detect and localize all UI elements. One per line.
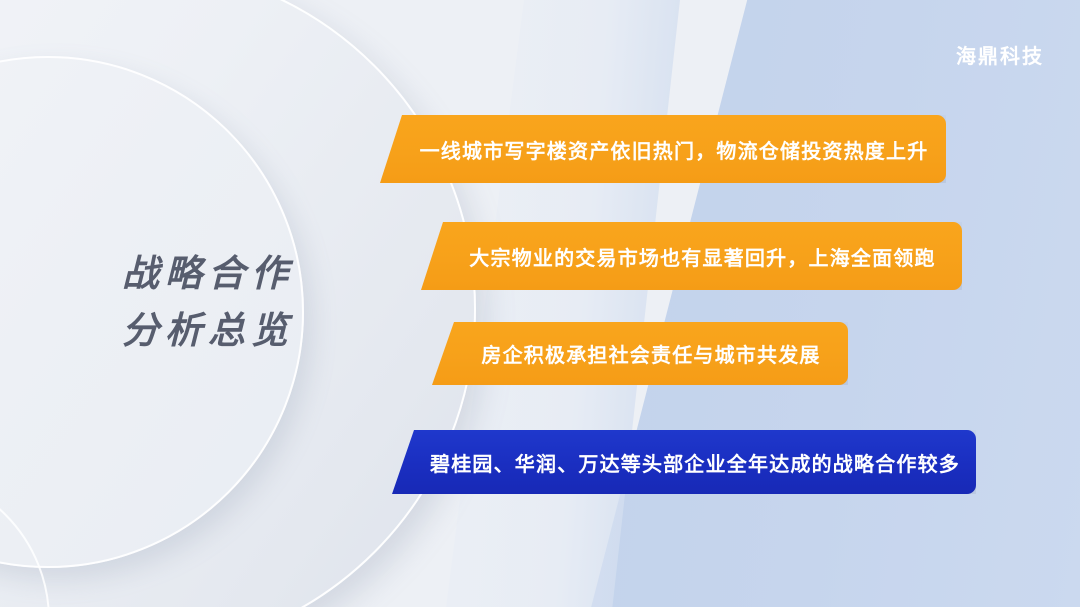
page-title-line-1: 战略合作 — [48, 245, 368, 302]
bar-item-label: 碧桂园、华润、万达等头部企业全年达成的战略合作较多 — [408, 448, 960, 477]
bar-item-label: 房企积极承担社会责任与城市共发展 — [459, 339, 820, 368]
company-logo: 海鼎科技 — [956, 40, 1044, 69]
page-title-line-2: 分析总览 — [48, 302, 368, 359]
page-title: 战略合作 分析总览 — [48, 245, 368, 360]
bar-item-4[interactable]: 碧桂园、华润、万达等头部企业全年达成的战略合作较多 — [392, 430, 976, 494]
bar-item-3[interactable]: 房企积极承担社会责任与城市共发展 — [432, 322, 848, 385]
bar-item-label: 一线城市写字楼资产依旧热门，物流仓储投资热度上升 — [398, 135, 929, 164]
bar-item-1[interactable]: 一线城市写字楼资产依旧热门，物流仓储投资热度上升 — [380, 115, 946, 183]
bar-item-2[interactable]: 大宗物业的交易市场也有显著回升，上海全面领跑 — [421, 222, 962, 290]
slide-canvas: 战略合作 分析总览 海鼎科技 一线城市写字楼资产依旧热门，物流仓储投资热度上升大… — [0, 0, 1080, 607]
bar-item-label: 大宗物业的交易市场也有显著回升，上海全面领跑 — [447, 242, 935, 271]
